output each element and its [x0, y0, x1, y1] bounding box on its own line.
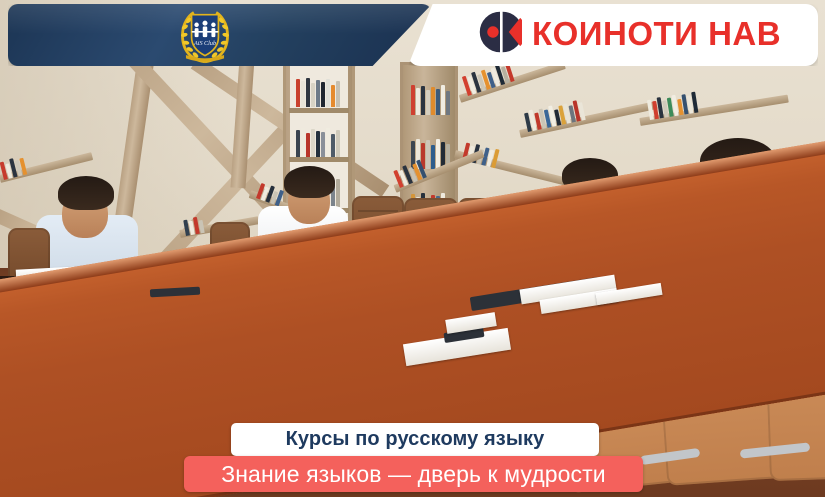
- caption-subtitle-box: Знание языков — дверь к мудрости: [184, 456, 643, 492]
- caption-title-box: Курсы по русскому языку: [231, 423, 599, 456]
- shield-laurel-emblem: AiS Club: [176, 8, 234, 64]
- poster-canvas: AiS Club КОИНОТИ НАВ Курсы по русскому я…: [0, 0, 825, 497]
- caption-subtitle: Знание языков — дверь к мудрости: [221, 461, 605, 488]
- emblem-club-text: AiS Club: [193, 41, 216, 47]
- koinoti-nav-circle-k-icon: [478, 10, 522, 59]
- brand-name: КОИНОТИ НАВ: [532, 15, 781, 53]
- caption-title: Курсы по русскому языку: [286, 428, 545, 451]
- brand-lockup: КОИНОТИ НАВ: [478, 8, 781, 60]
